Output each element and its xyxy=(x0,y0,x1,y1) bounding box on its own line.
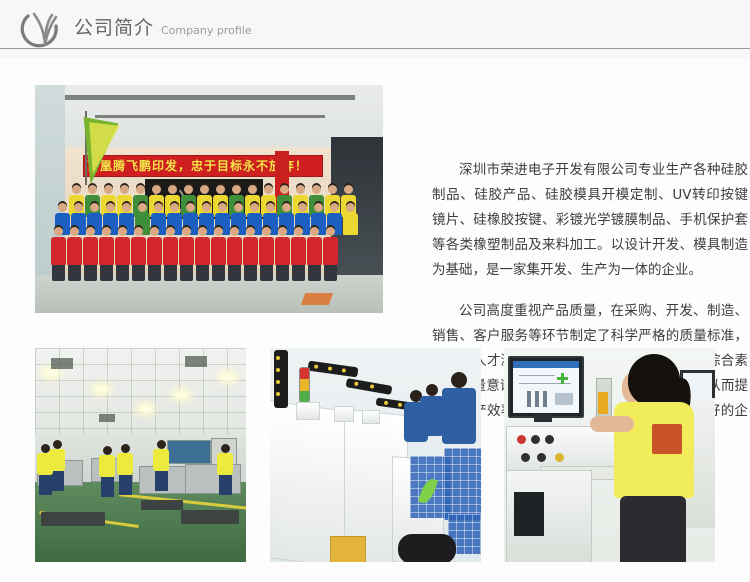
control-button-black xyxy=(537,453,546,462)
operator-arm xyxy=(590,416,634,432)
workshop-worker xyxy=(37,444,53,495)
machine-indicator-amber xyxy=(598,392,608,414)
shirt-graphic xyxy=(652,424,682,454)
photo-person xyxy=(243,227,258,281)
photo-person xyxy=(115,227,130,281)
company-group-photo: 百凰腾飞鹏印发，忠于目标永不放弃！ xyxy=(35,85,383,313)
photo-person xyxy=(307,227,322,281)
workshop-pallet xyxy=(181,510,239,524)
cnc-worker xyxy=(442,372,476,444)
warning-stripe-block xyxy=(330,536,366,562)
workshop-worker xyxy=(153,440,169,491)
page-header: 公司简介 Company profile xyxy=(0,0,750,58)
control-button-red xyxy=(517,435,526,444)
gallery-photo-operator-console xyxy=(504,348,715,562)
photo-company-flag-inner xyxy=(89,120,123,174)
control-button-black xyxy=(521,453,530,462)
monitor-stand xyxy=(534,414,552,422)
screen-part xyxy=(543,391,547,407)
page-title: 公司简介 xyxy=(74,16,154,40)
workshop-worker xyxy=(99,446,115,497)
photo-ceiling-beam xyxy=(65,95,355,100)
photo-person xyxy=(323,227,338,281)
photo-person xyxy=(51,227,66,281)
control-button-amber xyxy=(555,453,564,462)
workshop-lamp xyxy=(175,392,188,398)
screen-crosshair-icon xyxy=(557,373,568,384)
photo-person xyxy=(67,227,82,281)
screen-titlebar xyxy=(513,361,579,368)
header-divider xyxy=(0,48,750,49)
cnc-roller xyxy=(398,534,456,562)
parts-crate xyxy=(444,448,481,520)
workshop-lamp xyxy=(221,374,234,380)
workshop-lamp xyxy=(139,406,152,412)
operator-trousers xyxy=(620,496,686,562)
workshop-pallet xyxy=(141,500,183,510)
photo-person xyxy=(259,227,274,281)
company-circle-leaf-logo-icon xyxy=(14,2,70,58)
console-monitor xyxy=(508,356,584,418)
console-operator xyxy=(612,350,704,562)
photo-person xyxy=(275,227,290,281)
photo-person xyxy=(99,227,114,281)
photo-person xyxy=(343,203,358,235)
cnc-head xyxy=(296,402,320,420)
screen-part xyxy=(535,391,539,407)
control-button-black xyxy=(531,435,540,444)
gallery-photo-workshop-floor xyxy=(35,348,246,562)
photo-person xyxy=(195,227,210,281)
photo-people-row-front xyxy=(51,227,339,281)
photo-person xyxy=(179,227,194,281)
cnc-worker xyxy=(420,384,444,436)
photo-ceiling-beam-2 xyxy=(95,115,325,118)
machine-cabinet-window xyxy=(514,492,544,536)
page-subtitle: Company profile xyxy=(161,24,252,38)
facility-photo-gallery xyxy=(35,348,715,562)
photo-person xyxy=(147,227,162,281)
cable-carrier xyxy=(274,350,288,408)
control-button-black xyxy=(545,435,554,444)
page-title-group: 公司简介 Company profile xyxy=(74,16,252,40)
workshop-pallet xyxy=(41,512,105,526)
photo-floor-marker xyxy=(301,293,333,305)
photo-person xyxy=(163,227,178,281)
gallery-photo-cnc-line xyxy=(270,348,481,562)
cnc-head xyxy=(362,410,380,424)
photo-person xyxy=(83,227,98,281)
workshop-lamp xyxy=(95,386,108,392)
screen-part xyxy=(527,391,531,407)
workshop-worker xyxy=(117,444,133,495)
photo-person xyxy=(227,227,242,281)
workshop-vent xyxy=(99,414,115,422)
cnc-head xyxy=(334,406,354,422)
screen-line xyxy=(519,375,555,376)
workshop-machine xyxy=(167,440,211,464)
console-screen xyxy=(513,361,579,413)
company-description-paragraph-1: 深圳市荣进电子开发有限公司专业生产各种硅胶制品、硅胶产品、硅胶模具开模定制、UV… xyxy=(432,158,748,283)
photo-person xyxy=(131,227,146,281)
workshop-vent xyxy=(51,358,73,369)
workshop-lamp xyxy=(45,370,58,376)
workshop-vent xyxy=(185,356,207,367)
intro-section: 百凰腾飞鹏印发，忠于目标永不放弃！ xyxy=(35,85,715,313)
signal-tower-light xyxy=(300,368,309,402)
photo-person xyxy=(211,227,226,281)
workshop-worker xyxy=(217,444,233,495)
photo-person xyxy=(291,227,306,281)
screen-part xyxy=(555,393,573,405)
